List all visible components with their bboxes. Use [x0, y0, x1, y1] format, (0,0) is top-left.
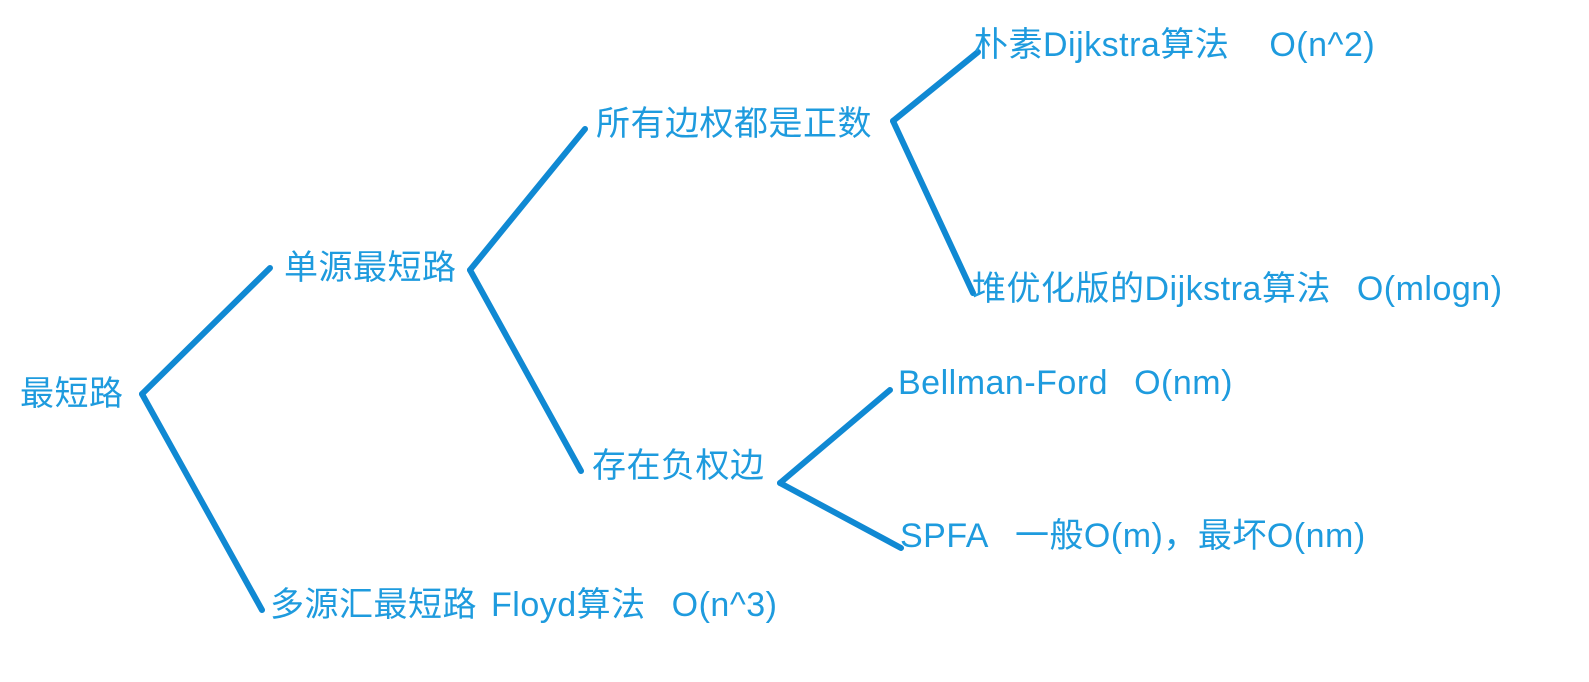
edge-single-to-positive: [470, 129, 585, 270]
edge-root-to-multi-source: [142, 394, 262, 610]
node-root[interactable]: 最短路: [20, 377, 124, 411]
edge-single-to-negative: [470, 270, 581, 471]
node-all-positive-weights[interactable]: 所有边权都是正数: [596, 107, 872, 141]
node-has-negative-weights[interactable]: 存在负权边: [592, 449, 765, 483]
diagram-canvas: 最短路 单源最短路 多源汇最短路Floyd算法O(n^3) 所有边权都是正数 存…: [0, 0, 1589, 682]
node-heap-dijkstra-complexity: O(mlogn): [1357, 270, 1503, 308]
node-all-positive-weights-label: 所有边权都是正数: [596, 105, 872, 143]
node-spfa[interactable]: SPFA一般O(m)，最坏O(nm): [900, 519, 1366, 553]
edge-positive-to-naive-dijkstra: [893, 52, 978, 121]
node-bellman-ford[interactable]: Bellman-FordO(nm): [898, 366, 1233, 400]
edge-negative-to-spfa: [780, 483, 901, 548]
node-spfa-complexity: 一般O(m)，最坏O(nm): [1015, 517, 1366, 555]
node-single-source-label: 单源最短路: [284, 249, 457, 287]
node-spfa-label: SPFA: [900, 517, 989, 555]
node-multi-source-sink-algorithm: Floyd算法: [491, 586, 646, 624]
node-multi-source-sink-label: 多源汇最短路: [270, 586, 477, 624]
node-bellman-ford-label: Bellman-Ford: [898, 364, 1108, 402]
node-naive-dijkstra[interactable]: 朴素Dijkstra算法O(n^2): [974, 28, 1375, 62]
node-heap-dijkstra-label: 堆优化版的Dijkstra算法: [972, 270, 1331, 308]
edge-negative-to-bellman-ford: [780, 390, 890, 483]
edge-positive-to-heap-dijkstra: [893, 121, 973, 293]
node-heap-dijkstra[interactable]: 堆优化版的Dijkstra算法O(mlogn): [972, 272, 1503, 306]
edge-root-to-single-source: [142, 268, 270, 394]
node-root-label: 最短路: [20, 375, 124, 413]
node-multi-source-sink-complexity: O(n^3): [672, 586, 778, 624]
node-multi-source-sink[interactable]: 多源汇最短路Floyd算法O(n^3): [270, 588, 778, 622]
node-naive-dijkstra-complexity: O(n^2): [1269, 26, 1375, 64]
node-bellman-ford-complexity: O(nm): [1134, 364, 1233, 402]
node-naive-dijkstra-label: 朴素Dijkstra算法: [974, 26, 1229, 64]
node-single-source[interactable]: 单源最短路: [284, 251, 457, 285]
tree-edges: [0, 0, 1589, 682]
node-has-negative-weights-label: 存在负权边: [592, 447, 765, 485]
